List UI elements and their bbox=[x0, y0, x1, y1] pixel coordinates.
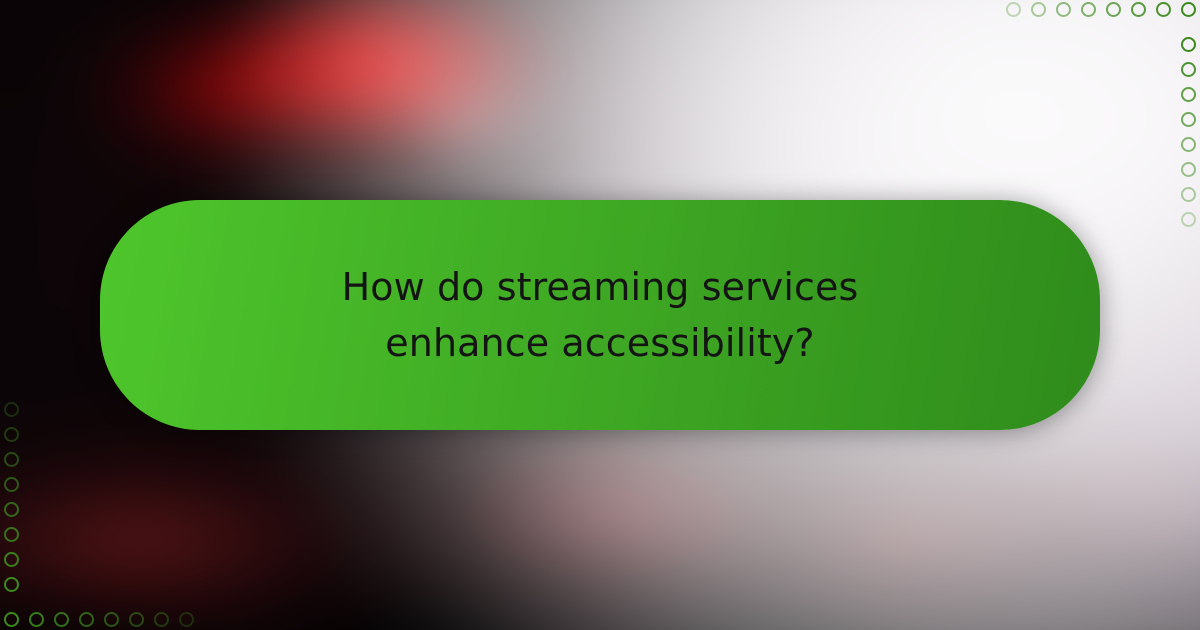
decorative-dot bbox=[1181, 187, 1196, 202]
decorative-dot bbox=[1181, 37, 1196, 52]
question-card-canvas: How do streaming services enhance access… bbox=[0, 0, 1200, 630]
decorative-dots-top-right bbox=[996, 2, 1196, 17]
decorative-dot bbox=[104, 612, 119, 627]
decorative-dot bbox=[1181, 137, 1196, 152]
decorative-dot bbox=[4, 402, 19, 417]
decorative-dot bbox=[1181, 87, 1196, 102]
decorative-dot bbox=[54, 612, 69, 627]
question-text: How do streaming services enhance access… bbox=[180, 259, 1020, 371]
decorative-dot bbox=[129, 612, 144, 627]
decorative-dot bbox=[1181, 62, 1196, 77]
decorative-dot bbox=[4, 612, 19, 627]
decorative-dot bbox=[4, 527, 19, 542]
decorative-dot bbox=[1131, 2, 1146, 17]
decorative-dot bbox=[4, 577, 19, 592]
question-card[interactable]: How do streaming services enhance access… bbox=[100, 200, 1100, 430]
decorative-dot bbox=[1181, 2, 1196, 17]
decorative-dot bbox=[154, 612, 169, 627]
decorative-dot bbox=[1156, 2, 1171, 17]
decorative-dot bbox=[1181, 212, 1196, 227]
decorative-dot bbox=[4, 427, 19, 442]
decorative-dots-left-column bbox=[4, 402, 19, 602]
decorative-dots-bottom-left bbox=[4, 612, 204, 627]
decorative-dot bbox=[1031, 2, 1046, 17]
decorative-dot bbox=[1081, 2, 1096, 17]
decorative-dot bbox=[179, 612, 194, 627]
decorative-dot bbox=[1181, 112, 1196, 127]
decorative-dot bbox=[1006, 2, 1021, 17]
decorative-dot bbox=[1056, 2, 1071, 17]
decorative-dot bbox=[4, 502, 19, 517]
decorative-dot bbox=[1106, 2, 1121, 17]
decorative-dot bbox=[4, 477, 19, 492]
decorative-dot bbox=[29, 612, 44, 627]
decorative-dot bbox=[4, 452, 19, 467]
decorative-dots-right-column bbox=[1181, 27, 1196, 227]
decorative-dot bbox=[1181, 162, 1196, 177]
decorative-dot bbox=[4, 552, 19, 567]
decorative-dot bbox=[79, 612, 94, 627]
